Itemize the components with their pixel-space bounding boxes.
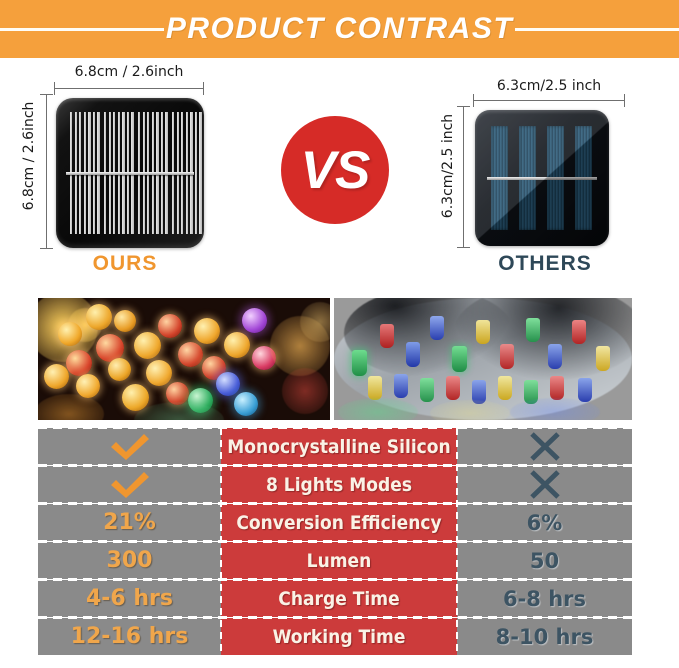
solar-panel-comparison-section: 6.8cm / 2.6inch 6.8cm / 2.6inch OURS VS … — [0, 58, 679, 290]
table-row: 4-6 hrs Charge Time 6-8 hrs — [38, 580, 632, 617]
feature-label: Monocrystalline Silicon — [227, 436, 450, 458]
feature-label: 8 Lights Modes — [266, 474, 412, 496]
ours-value: 4-6 hrs — [86, 586, 173, 611]
ours-height-tick-bottom — [40, 248, 53, 249]
vs-badge: VS — [281, 116, 389, 224]
others-height-tick-bottom — [457, 247, 470, 248]
ours-panel-busbar — [66, 172, 194, 175]
others-value: 6% — [527, 511, 563, 535]
table-row: 300 Lumen 50 — [38, 542, 632, 579]
ours-solar-panel-image — [56, 98, 204, 248]
ours-panel-group: 6.8cm / 2.6inch 6.8cm / 2.6inch OURS — [10, 62, 240, 290]
others-width-tick-right — [624, 94, 625, 107]
page-title: PRODUCT CONTRAST — [162, 12, 517, 46]
ours-value-cell — [38, 466, 221, 503]
comparison-table: Monocrystalline Silicon 8 Lights Modes 2… — [38, 428, 632, 660]
others-solar-panel-image — [475, 110, 609, 246]
feature-name-cell: Charge Time — [221, 580, 457, 617]
others-width-dimension-label: 6.3cm/2.5 inch — [473, 78, 625, 94]
table-separator — [38, 540, 632, 543]
ours-value-cell — [38, 428, 221, 465]
table-column-separator-left — [220, 428, 222, 660]
cross-mark-icon — [528, 470, 562, 500]
table-separator — [38, 464, 632, 467]
feature-name-cell: Working Time — [221, 618, 457, 655]
table-separator — [38, 616, 632, 619]
others-value-cell: 6-8 hrs — [457, 580, 632, 617]
feature-name-cell: Lumen — [221, 542, 457, 579]
page-header: PRODUCT CONTRAST — [0, 0, 679, 58]
table-row: 12-16 hrs Working Time 8-10 hrs — [38, 618, 632, 655]
others-value-cell: 6% — [457, 504, 632, 541]
others-height-dimension-line — [463, 106, 464, 248]
table-separator — [38, 426, 632, 429]
others-value: 50 — [530, 549, 559, 573]
others-panel-group: 6.3cm/2.5 inch 6.3cm/2.5 inch OTHERS — [425, 62, 665, 290]
cross-mark-icon — [528, 432, 562, 462]
ours-lights-photo — [38, 298, 330, 420]
others-width-tick-left — [473, 94, 474, 107]
others-value-cell: 8-10 hrs — [457, 618, 632, 655]
ours-height-tick-top — [40, 94, 53, 95]
others-width-dimension-line — [473, 100, 625, 101]
others-height-tick-top — [457, 106, 470, 107]
table-column-separator-right — [456, 428, 458, 660]
ours-width-tick-left — [54, 82, 55, 95]
others-value-cell: 50 — [457, 542, 632, 579]
feature-name-cell: Conversion Efficiency — [221, 504, 457, 541]
table-separator — [38, 578, 632, 581]
ours-value: 12-16 hrs — [71, 624, 189, 649]
feature-label: Working Time — [273, 626, 406, 648]
check-mark-icon — [108, 470, 152, 500]
others-panel-glare — [475, 110, 609, 246]
product-photos-strip — [0, 290, 679, 426]
others-height-dimension-label: 6.3cm/2.5 inch — [440, 101, 456, 231]
table-separator — [38, 502, 632, 505]
others-label: OTHERS — [425, 252, 665, 276]
table-row: 8 Lights Modes — [38, 466, 632, 503]
table-row: Monocrystalline Silicon — [38, 428, 632, 465]
header-rule-left — [0, 28, 164, 31]
others-value-cell — [457, 428, 632, 465]
ours-value: 21% — [103, 510, 156, 535]
others-lights-photo — [334, 298, 632, 420]
ours-value-cell: 12-16 hrs — [38, 618, 221, 655]
ours-width-tick-right — [203, 82, 204, 95]
feature-label: Charge Time — [278, 588, 399, 610]
feature-label: Conversion Efficiency — [236, 512, 441, 534]
ours-width-dimension-line — [54, 88, 204, 89]
others-value-cell — [457, 466, 632, 503]
ours-value: 300 — [107, 548, 153, 573]
ours-value-cell: 21% — [38, 504, 221, 541]
header-rule-right — [515, 28, 679, 31]
ours-height-dimension-label: 6.8cm / 2.6inch — [21, 91, 37, 221]
check-mark-icon — [108, 432, 152, 462]
feature-name-cell: 8 Lights Modes — [221, 466, 457, 503]
ours-height-dimension-line — [46, 94, 47, 249]
table-row: 21% Conversion Efficiency 6% — [38, 504, 632, 541]
ours-width-dimension-label: 6.8cm / 2.6inch — [54, 64, 204, 80]
vs-label: VS — [301, 140, 370, 201]
others-value: 8-10 hrs — [496, 625, 594, 649]
others-value: 6-8 hrs — [503, 587, 586, 611]
ours-label: OURS — [10, 252, 240, 276]
feature-label: Lumen — [307, 550, 372, 572]
ours-value-cell: 300 — [38, 542, 221, 579]
ours-value-cell: 4-6 hrs — [38, 580, 221, 617]
feature-name-cell: Monocrystalline Silicon — [221, 428, 457, 465]
